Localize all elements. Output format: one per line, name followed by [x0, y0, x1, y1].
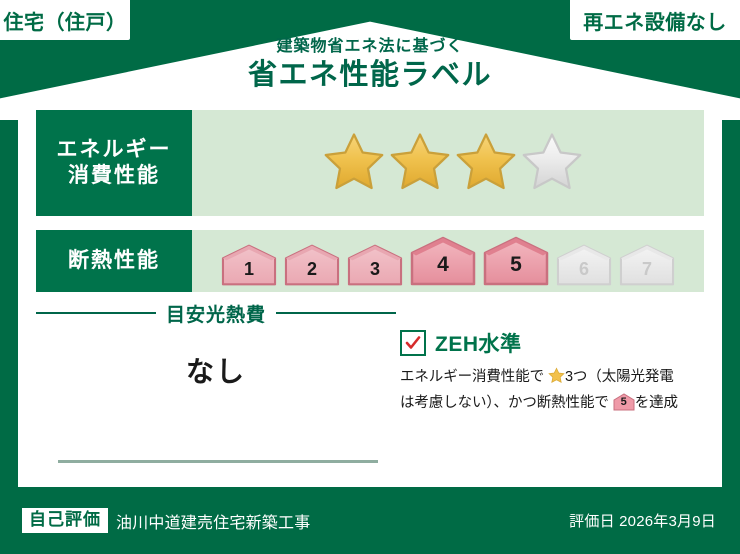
title-block: 建築物省エネ法に基づく 省エネ性能ラベル: [0, 38, 740, 91]
insulation-grade-scale: 1234567: [220, 236, 676, 286]
title-subtitle: 建築物省エネ法に基づく: [0, 38, 740, 56]
energy-performance-label: エネルギー 消費性能: [36, 110, 192, 216]
star-empty-icon: [521, 131, 583, 196]
star-rating: [323, 131, 583, 196]
zeh-desc-part3: を達成: [635, 395, 678, 411]
zeh-desc-part2: は考慮しない）、かつ断熱性能で: [400, 395, 609, 411]
row-energy-performance: エネルギー 消費性能: [36, 110, 704, 216]
insulation-grade-active: 4: [409, 236, 477, 286]
energy-label-line2: 消費性能: [68, 163, 160, 189]
zeh-desc-stars: 3つ（太陽光発電: [565, 369, 674, 385]
insulation-performance-value: 1234567: [192, 230, 704, 292]
row-insulation-performance: 断熱性能 1234567: [36, 230, 704, 292]
self-evaluation-badge: 自己評価: [22, 508, 108, 533]
badge-renewable-energy: 再エネ設備なし: [570, 0, 740, 40]
insulation-grade-active: 1: [220, 244, 278, 286]
energy-performance-value: [192, 110, 704, 216]
insulation-grade-active: 3: [346, 244, 404, 286]
energy-label-card: 建築物省エネ法に基づく 省エネ性能ラベル 住宅（住戸） 再エネ設備なし エネルギ…: [0, 0, 740, 554]
insulation-grade-active: 2: [283, 244, 341, 286]
star-filled-icon: [455, 131, 517, 196]
footer-left-group: 自己評価 油川中道建売住宅新築工事: [22, 508, 310, 533]
house-inline-grade: 5: [613, 394, 635, 412]
zeh-block: ZEH水準 エネルギー消費性能で 3つ（太陽光発電 は考慮しない）、かつ断熱性能…: [400, 328, 700, 415]
title-main: 省エネ性能ラベル: [0, 60, 740, 92]
checkbox-checked-icon: [400, 330, 426, 356]
insulation-grade-active: 5: [482, 236, 550, 286]
project-name: 油川中道建売住宅新築工事: [116, 509, 310, 533]
star-filled-icon: [323, 131, 385, 196]
cost-divider: [58, 460, 378, 463]
cost-rule-right: [276, 312, 396, 314]
insulation-grade-inactive: 6: [555, 244, 613, 286]
star-filled-icon: [389, 131, 451, 196]
content-panel: エネルギー 消費性能 断熱性能 1234567 目安光熱費 なし: [18, 100, 722, 487]
footer-bar: 自己評価 油川中道建売住宅新築工事 評価日 2026年3月9日: [0, 487, 740, 554]
zeh-desc-part1: エネルギー消費性能で: [400, 369, 544, 385]
utility-cost-header: 目安光熱費: [36, 300, 396, 326]
zeh-header: ZEH水準: [400, 328, 700, 358]
utility-cost-title: 目安光熱費: [166, 300, 266, 327]
insulation-performance-label: 断熱性能: [36, 230, 192, 292]
insulation-grade-inactive: 7: [618, 244, 676, 286]
badge-building-type: 住宅（住戸）: [0, 0, 130, 40]
star-inline-icon: [548, 367, 565, 392]
cost-rule-left: [36, 312, 156, 314]
insulation-label-text: 断熱性能: [68, 248, 160, 274]
zeh-description: エネルギー消費性能で 3つ（太陽光発電 は考慮しない）、かつ断熱性能で 5 を達…: [400, 366, 700, 415]
evaluation-date: 評価日 2026年3月9日: [569, 510, 716, 531]
zeh-title: ZEH水準: [435, 328, 522, 358]
energy-label-line1: エネルギー: [57, 137, 172, 163]
utility-cost-value: なし: [36, 350, 396, 390]
house-inline-icon: 5: [613, 393, 635, 411]
